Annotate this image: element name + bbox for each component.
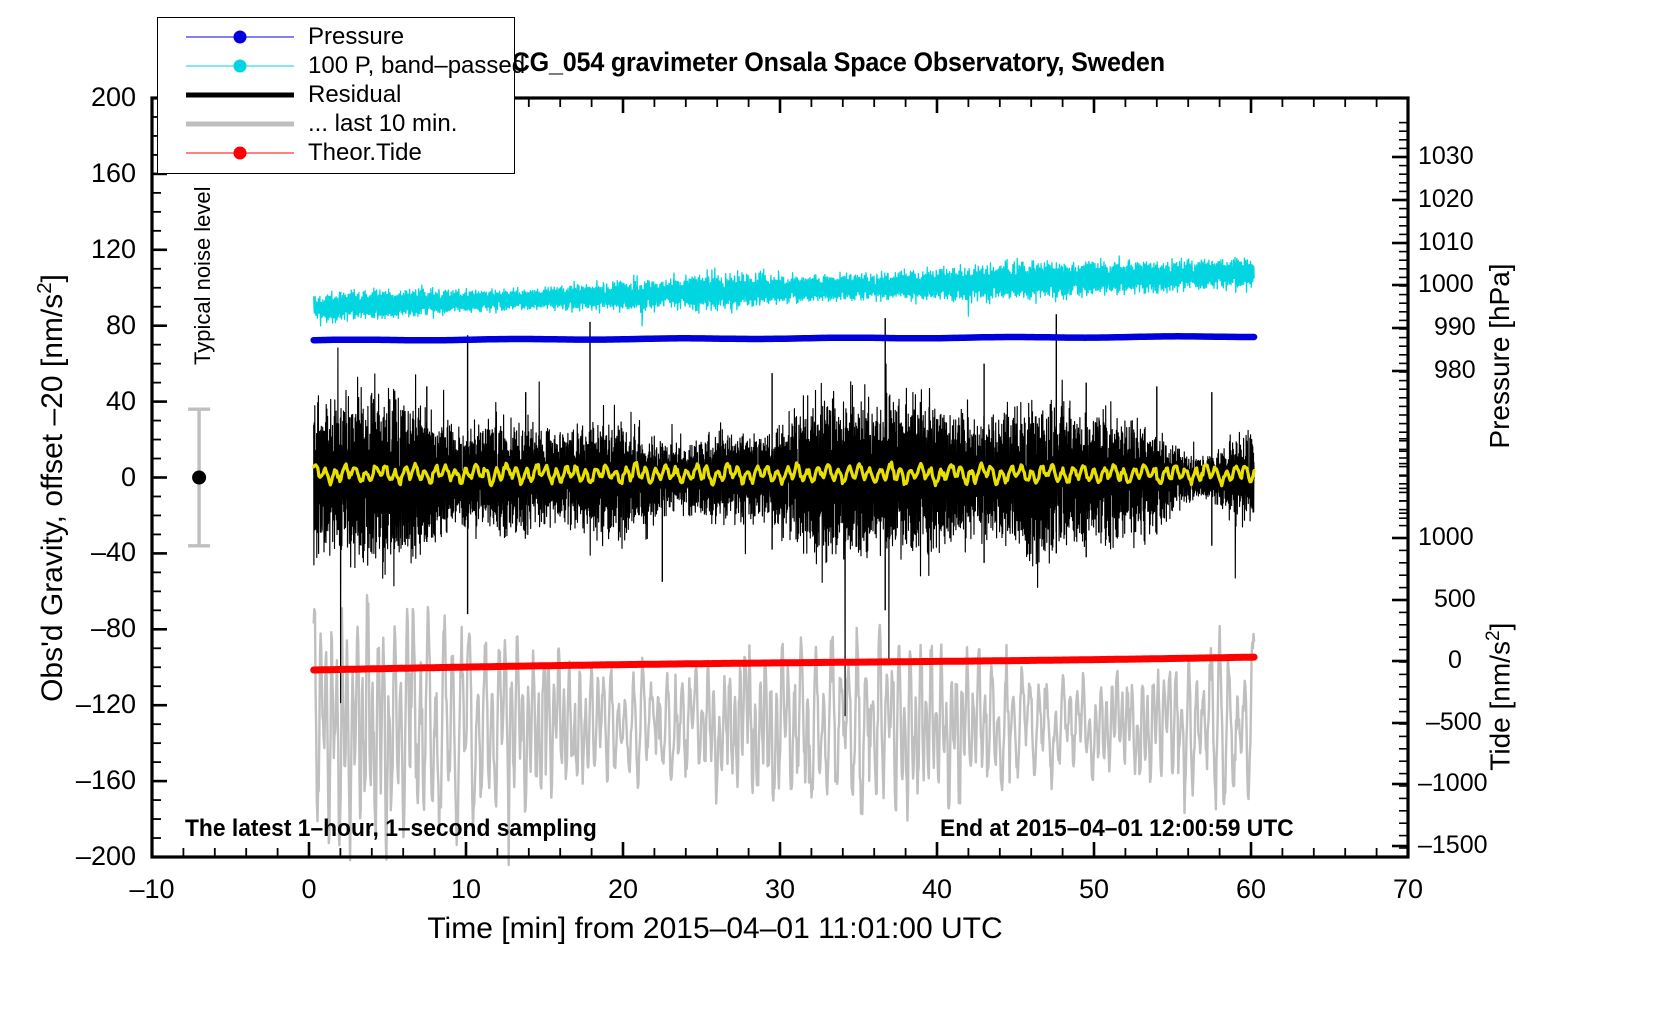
legend-item[interactable]: Pressure (158, 22, 514, 51)
legend-item[interactable]: ... last 10 min. (158, 109, 514, 138)
x-tick-label: 30 (720, 876, 840, 903)
y-tick-label-left: 120 (91, 236, 136, 263)
legend-swatch (186, 143, 294, 163)
typical-noise-level-errorbar (188, 409, 210, 546)
x-tick-label: 0 (249, 876, 369, 903)
y-tick-label-left: 160 (91, 160, 136, 187)
y-axis-left-tick-marks (152, 98, 167, 857)
legend-swatch (186, 56, 294, 76)
footer-right-note: End at 2015–04–01 12:00:59 UTC (940, 815, 1294, 843)
legend-marker-dot-icon (234, 146, 247, 159)
legend-marker-dot-icon (234, 59, 247, 72)
y-axis-tide-title-text: Tide [nm/s2] (1485, 623, 1516, 771)
x-tick-label: –10 (92, 876, 212, 903)
y-tick-label-left: –80 (91, 615, 136, 642)
y-axis-tide-title: Tide [nm/s2] (1483, 527, 1516, 867)
y-tick-label-tide: 500 (1434, 587, 1476, 612)
legend-line-icon (186, 121, 294, 126)
x-tick-label: 60 (1191, 876, 1311, 903)
y-tick-label-left: –200 (76, 843, 136, 870)
x-tick-label: 20 (563, 876, 683, 903)
x-axis-ticks: –10010203040506070 (0, 876, 1660, 916)
legend-line-icon (186, 92, 294, 97)
y-tick-label-tide: –1500 (1418, 833, 1488, 858)
series-pressure (314, 336, 1254, 340)
y-tick-label-left: 0 (121, 464, 136, 491)
legend-swatch (186, 85, 294, 105)
x-tick-label: 40 (877, 876, 997, 903)
legend-marker-dot-icon (234, 30, 247, 43)
y-tick-label-left: –120 (76, 691, 136, 718)
y-axis-left-title-text: Obs'd Gravity, offset –20 [nm/s2] (36, 274, 69, 702)
x-tick-label: 50 (1034, 876, 1154, 903)
series-100p-band-passed (314, 256, 1254, 326)
y-axis-left-title: Obs'd Gravity, offset –20 [nm/s2] (34, 138, 70, 838)
x-axis-title: Time [min] from 2015–04–01 11:01:00 UTC (0, 912, 1430, 946)
chart-root: SCG_054 gravimeter Onsala Space Observat… (0, 0, 1660, 1020)
y-tick-label-tide: –500 (1426, 710, 1482, 735)
y-tick-label-tide: –1000 (1418, 771, 1488, 796)
legend-item-label: Residual (308, 83, 401, 107)
y-tick-label-left: –40 (91, 539, 136, 566)
legend-swatch (186, 114, 294, 134)
y-tick-label-left: 200 (91, 84, 136, 111)
y-tick-label-left: –160 (76, 767, 136, 794)
legend-item-label: Theor.Tide (308, 141, 422, 165)
y-tick-label-tide: 1000 (1418, 525, 1474, 550)
y-tick-label-tide: 0 (1448, 648, 1462, 673)
y-axis-pressure-title: Pressure [hPa] (1484, 146, 1516, 566)
x-tick-label: 10 (406, 876, 526, 903)
y-tick-label-left: 40 (106, 388, 136, 415)
legend-item[interactable]: Theor.Tide (158, 138, 514, 167)
errorbar-center-dot (192, 471, 206, 485)
y-axis-right-tick-marks (1392, 123, 1408, 848)
legend: Pressure100 P, band–passedResidual... la… (157, 17, 515, 174)
legend-item[interactable]: Residual (158, 80, 514, 109)
x-tick-label: 70 (1348, 876, 1468, 903)
y-tick-label-left: 80 (106, 312, 136, 339)
legend-item-label: Pressure (308, 25, 404, 49)
footer-left-note: The latest 1–hour, 1–second sampling (185, 815, 597, 843)
legend-item[interactable]: 100 P, band–passed (158, 51, 514, 80)
legend-item-label: 100 P, band–passed (308, 54, 525, 78)
y-axis-tide-ticks: 10005000–500–1000–1500 (1418, 0, 1538, 1020)
legend-item-label: ... last 10 min. (308, 112, 457, 136)
legend-swatch (186, 27, 294, 47)
